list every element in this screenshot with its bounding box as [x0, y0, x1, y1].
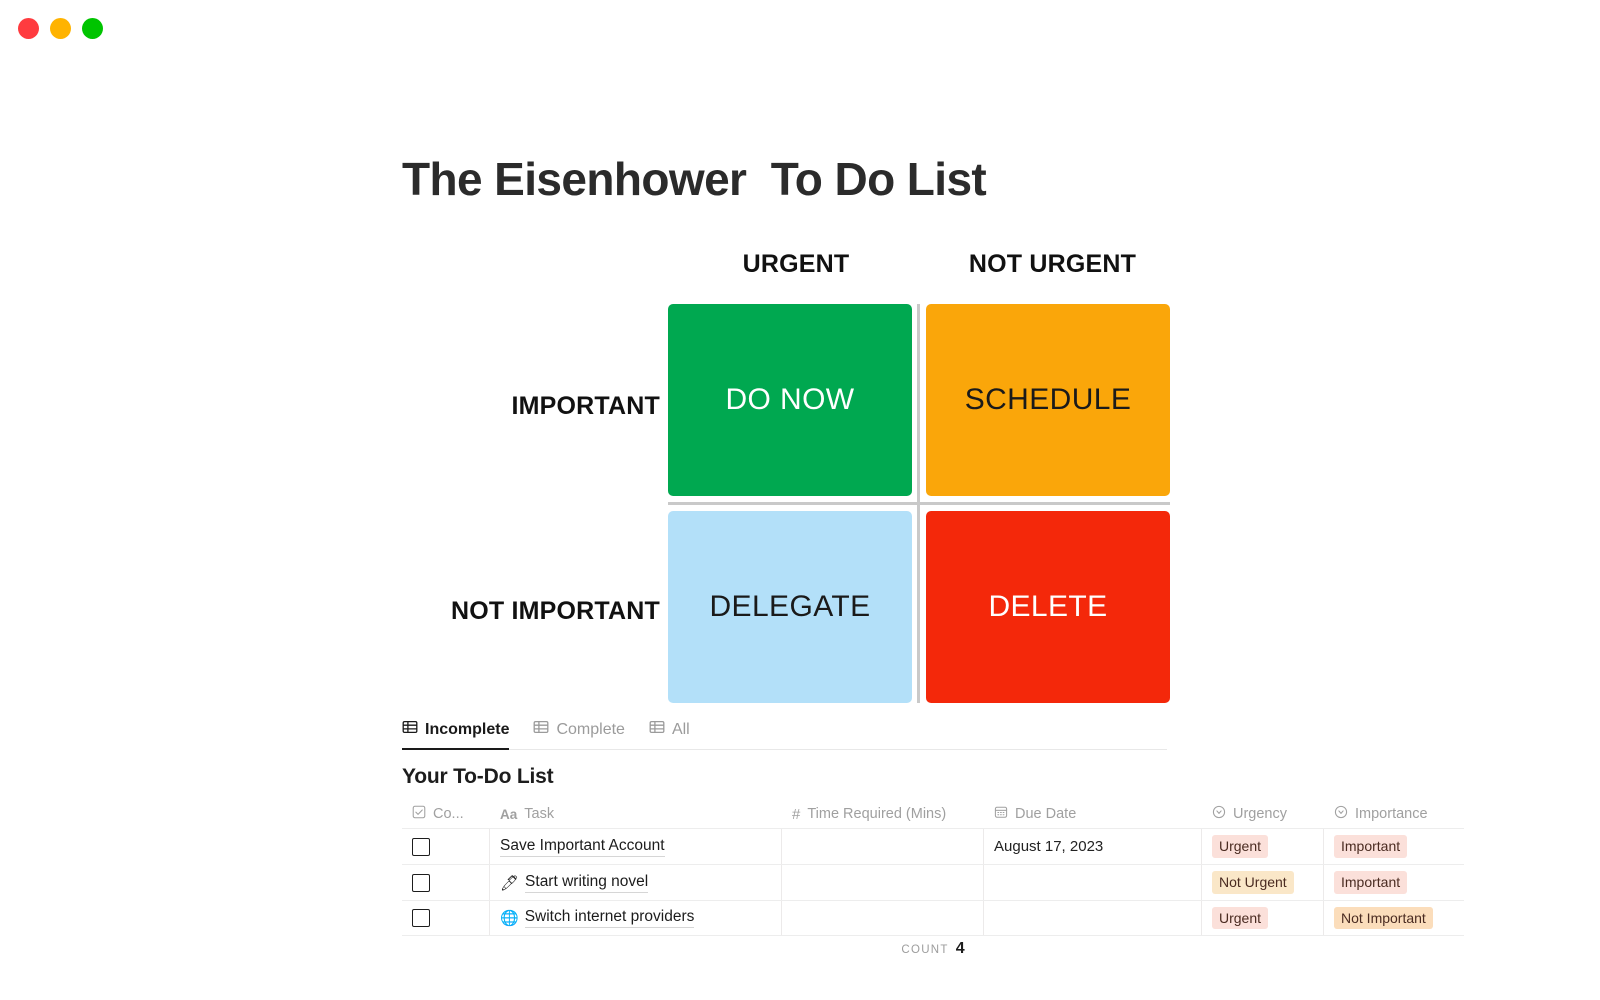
- row-count-label: Count: [901, 944, 948, 956]
- row-checkbox[interactable]: [412, 909, 430, 927]
- row-urgency-cell[interactable]: Not Urgent: [1202, 865, 1324, 900]
- urgency-tag: Urgent: [1212, 835, 1268, 858]
- row-checkbox-cell[interactable]: [402, 865, 490, 900]
- row-importance-cell[interactable]: Important: [1324, 829, 1464, 864]
- column-header-task-label: Task: [524, 806, 554, 822]
- row-time-required-cell[interactable]: [782, 865, 984, 900]
- checkbox-icon: [412, 805, 426, 823]
- table-header-row: Co... Aa Task # Time Required (Mins): [402, 802, 1464, 828]
- table-row[interactable]: Save Important Account August 17, 2023 U…: [402, 828, 1464, 864]
- database-viewport: Your To-Do List Co... Aa Task: [0, 0, 1600, 937]
- row-task-cell[interactable]: 🌐 Switch internet providers: [490, 901, 782, 935]
- row-task-cell[interactable]: 🖊 Start writing novel: [490, 865, 782, 900]
- todo-table: Co... Aa Task # Time Required (Mins): [402, 802, 1464, 936]
- table-row[interactable]: 🖊 Start writing novel Not Urgent Importa…: [402, 864, 1464, 900]
- column-header-task[interactable]: Aa Task: [490, 802, 782, 828]
- column-header-complete-label: Co...: [433, 806, 464, 822]
- column-header-time-required-label: Time Required (Mins): [807, 806, 946, 822]
- row-checkbox[interactable]: [412, 838, 430, 856]
- column-header-importance[interactable]: Importance: [1324, 802, 1464, 828]
- row-due-date-cell[interactable]: August 17, 2023: [984, 829, 1202, 864]
- text-aa-icon: Aa: [500, 807, 517, 822]
- urgency-tag: Urgent: [1212, 907, 1268, 930]
- table-row[interactable]: 🌐 Switch internet providers Urgent Not I…: [402, 900, 1464, 936]
- row-time-required-cell[interactable]: [782, 901, 984, 935]
- row-due-date-cell[interactable]: [984, 865, 1202, 900]
- row-urgency-cell[interactable]: Urgent: [1202, 829, 1324, 864]
- row-task-title: Switch internet providers: [525, 908, 695, 928]
- database-title: Your To-Do List: [402, 765, 553, 789]
- select-circle-icon: [1334, 805, 1348, 823]
- globe-icon: 🌐: [500, 909, 519, 927]
- row-task-title: Start writing novel: [525, 873, 648, 893]
- importance-tag: Important: [1334, 871, 1407, 894]
- column-header-due-date[interactable]: Due Date: [984, 802, 1202, 828]
- row-urgency-cell[interactable]: Urgent: [1202, 901, 1324, 935]
- row-task-title: Save Important Account: [500, 837, 665, 857]
- importance-tag: Not Important: [1334, 907, 1433, 930]
- row-importance-cell[interactable]: Important: [1324, 865, 1464, 900]
- page-canvas: The Eisenhower To Do List URGENT NOT URG…: [0, 0, 1600, 1000]
- column-header-due-date-label: Due Date: [1015, 806, 1076, 822]
- row-checkbox[interactable]: [412, 874, 430, 892]
- row-count-value: 4: [956, 940, 965, 958]
- column-header-complete[interactable]: Co...: [402, 802, 490, 828]
- column-header-importance-label: Importance: [1355, 806, 1428, 822]
- row-count-bar: Count 4: [402, 940, 1464, 958]
- pen-icon: 🖊: [500, 874, 519, 892]
- row-importance-cell[interactable]: Not Important: [1324, 901, 1464, 935]
- importance-tag: Important: [1334, 835, 1407, 858]
- column-header-time-required[interactable]: # Time Required (Mins): [782, 802, 984, 828]
- column-header-urgency-label: Urgency: [1233, 806, 1287, 822]
- row-due-date-cell[interactable]: [984, 901, 1202, 935]
- row-checkbox-cell[interactable]: [402, 901, 490, 935]
- urgency-tag: Not Urgent: [1212, 871, 1294, 894]
- select-circle-icon: [1212, 805, 1226, 823]
- row-checkbox-cell[interactable]: [402, 829, 490, 864]
- row-time-required-cell[interactable]: [782, 829, 984, 864]
- calendar-icon: [994, 805, 1008, 823]
- number-hash-icon: #: [792, 806, 800, 823]
- column-header-urgency[interactable]: Urgency: [1202, 802, 1324, 828]
- row-task-cell[interactable]: Save Important Account: [490, 829, 782, 864]
